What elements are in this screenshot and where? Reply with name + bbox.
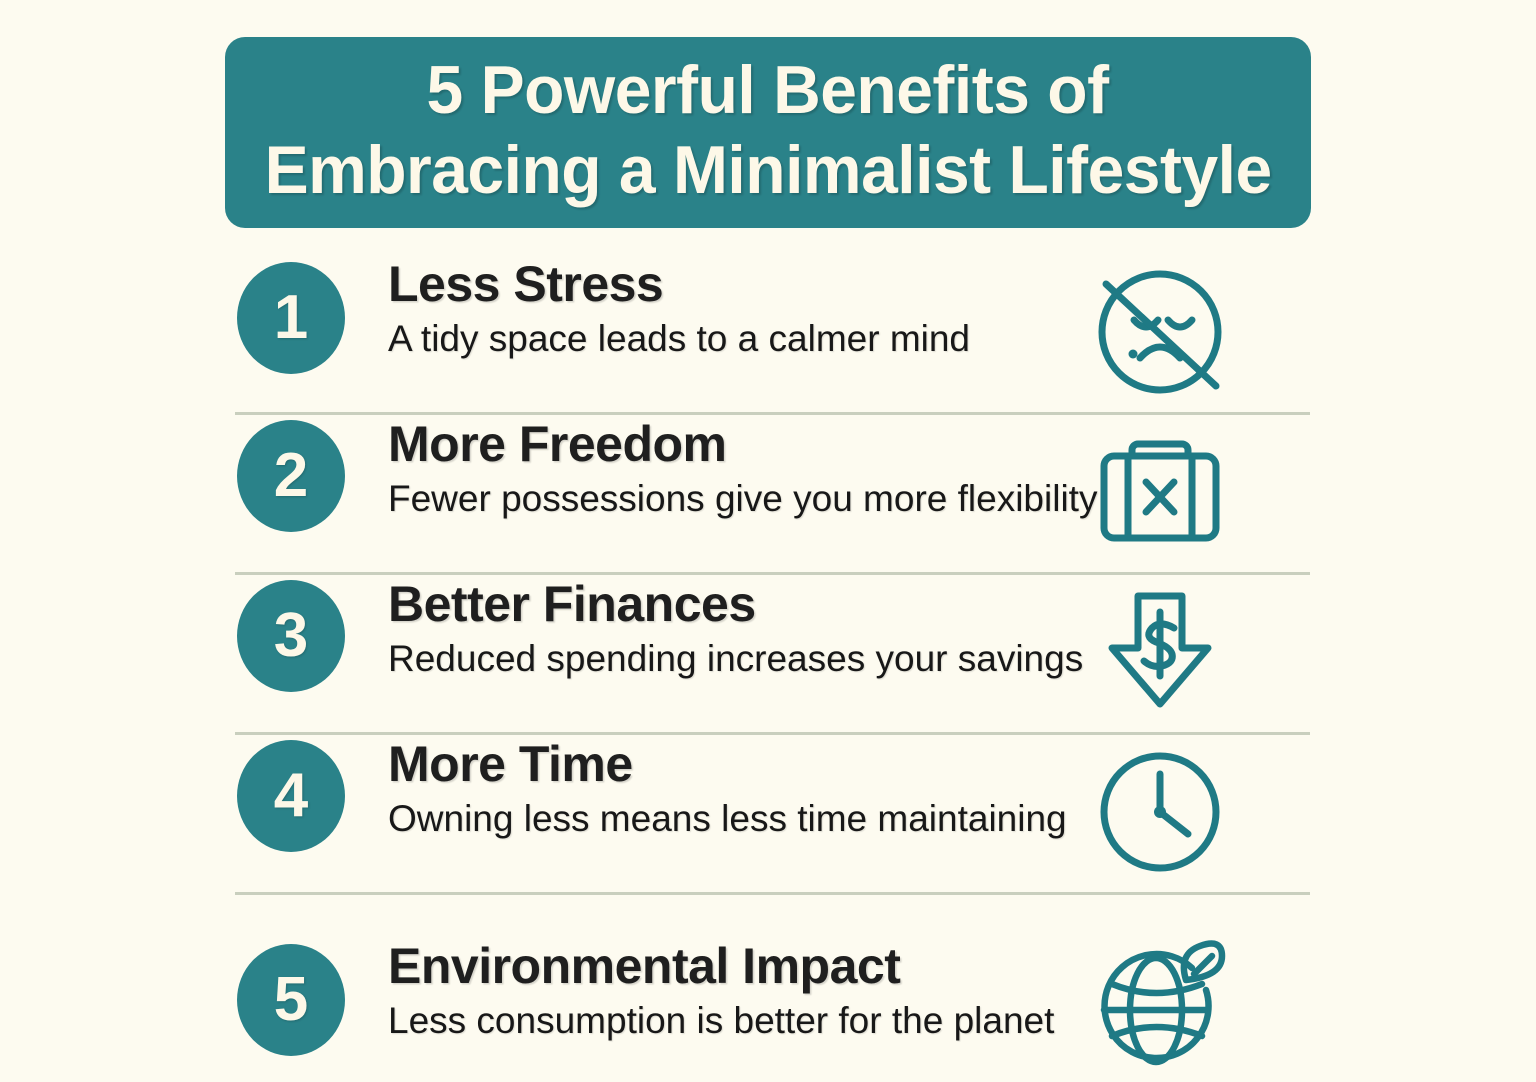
benefit-row: 5 Environmental Impact Less consumption … [0, 892, 1536, 1052]
benefit-subtitle: Owning less means less time maintaining [388, 799, 1088, 840]
benefit-heading: More Freedom [388, 418, 1088, 471]
suitcase-with-x-icon [1082, 418, 1238, 566]
number-badge-label: 5 [274, 969, 308, 1031]
benefit-list: 1 Less Stress A tidy space leads to a ca… [0, 252, 1536, 1052]
number-badge-2: 2 [237, 420, 345, 532]
benefit-heading: More Time [388, 738, 1088, 791]
benefit-row: 2 More Freedom Fewer possessions give yo… [0, 412, 1536, 572]
benefit-heading: Environmental Impact [388, 940, 1088, 993]
number-badge-label: 4 [274, 765, 308, 827]
title-line-2: Embracing a Minimalist Lifestyle [264, 136, 1271, 204]
title-banner: 5 Powerful Benefits of Embracing a Minim… [225, 37, 1311, 228]
number-badge-label: 1 [274, 287, 308, 349]
row-divider [235, 572, 1310, 575]
row-divider [235, 732, 1310, 735]
benefit-subtitle: Fewer possessions give you more flexibil… [388, 479, 1088, 520]
benefit-heading: Less Stress [388, 258, 1088, 311]
row-divider [235, 412, 1310, 415]
benefit-row: 1 Less Stress A tidy space leads to a ca… [0, 252, 1536, 412]
globe-leaf-icon [1082, 934, 1238, 1082]
benefit-text-3: Better Finances Reduced spending increas… [388, 578, 1088, 680]
benefit-subtitle: Reduced spending increases your savings [388, 639, 1088, 680]
benefit-subtitle: A tidy space leads to a calmer mind [388, 319, 1088, 360]
number-badge-4: 4 [237, 740, 345, 852]
benefit-text-2: More Freedom Fewer possessions give you … [388, 418, 1088, 520]
number-badge-label: 2 [274, 445, 308, 507]
no-stress-face-icon [1082, 258, 1238, 406]
benefit-text-5: Environmental Impact Less consumption is… [388, 940, 1088, 1042]
infographic-canvas: 5 Powerful Benefits of Embracing a Minim… [0, 0, 1536, 1024]
number-badge-3: 3 [237, 580, 345, 692]
number-badge-label: 3 [274, 605, 308, 667]
number-badge-1: 1 [237, 262, 345, 374]
number-badge-5: 5 [237, 944, 345, 1056]
benefit-text-1: Less Stress A tidy space leads to a calm… [388, 258, 1088, 360]
benefit-row: 3 Better Finances Reduced spending incre… [0, 572, 1536, 732]
row-divider [235, 892, 1310, 895]
benefit-row: 4 More Time Owning less means less time … [0, 732, 1536, 892]
clock-icon [1082, 738, 1238, 886]
benefit-text-4: More Time Owning less means less time ma… [388, 738, 1088, 840]
down-arrow-dollar-icon [1082, 578, 1238, 726]
benefit-subtitle: Less consumption is better for the plane… [388, 1001, 1088, 1042]
title-line-1: 5 Powerful Benefits of [427, 56, 1109, 124]
benefit-heading: Better Finances [388, 578, 1088, 631]
